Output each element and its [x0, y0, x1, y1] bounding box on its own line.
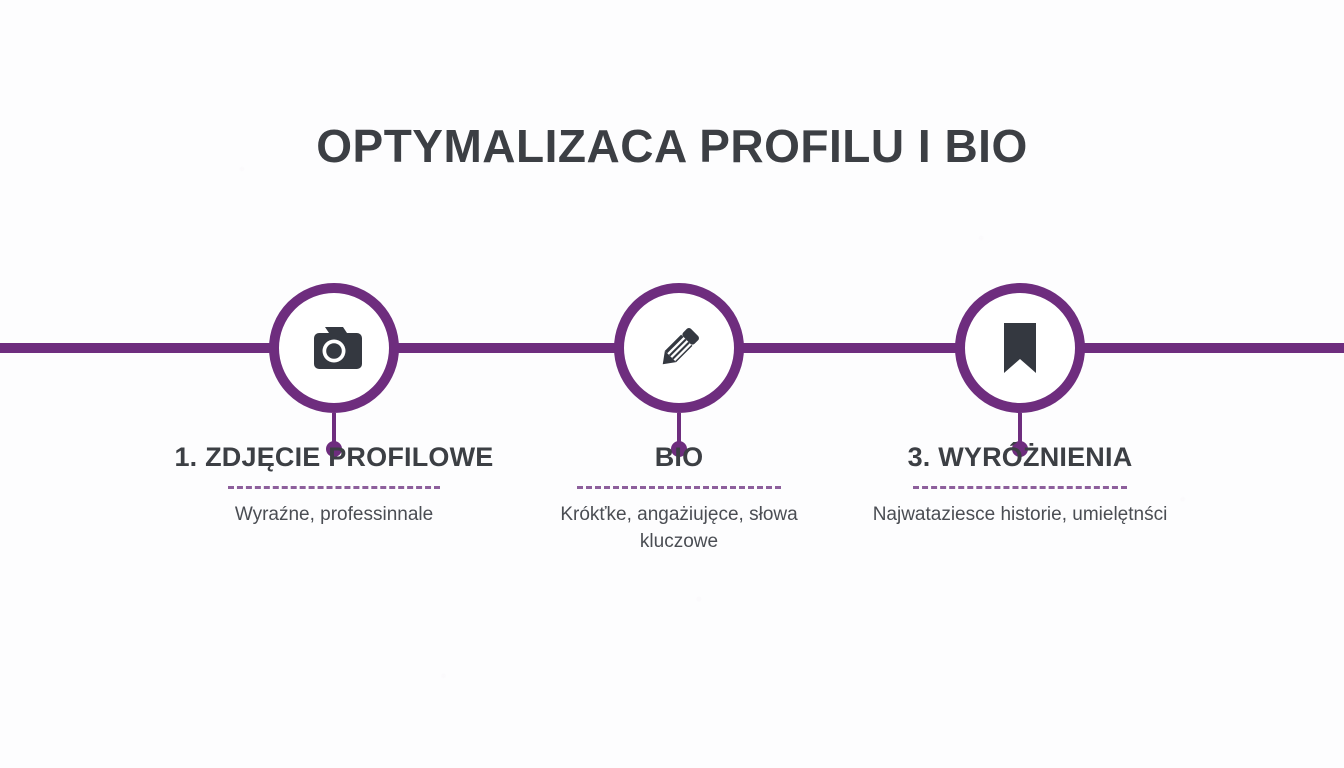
timeline-step-3[interactable] [870, 283, 1170, 458]
step-label-block-3: 3. WYRÓŻNIENIA Najwataziesce historie, u… [840, 443, 1200, 528]
pencil-icon [652, 321, 706, 375]
step-divider-3 [913, 486, 1127, 489]
step-label-block-1: 1. ZDJĘCIE PROFILOWE Wyraźne, professinn… [154, 443, 514, 528]
node-stem-3 [1018, 413, 1022, 443]
timeline-steps: 1. ZDJĘCIE PROFILOWE Wyraźne, professinn… [0, 0, 1344, 768]
infographic-canvas: OPTYMALIZACA PROFILU I BIO [0, 0, 1344, 768]
timeline-node-3[interactable] [955, 283, 1085, 413]
camera-icon [305, 324, 363, 372]
step-title-3: 3. WYRÓŻNIENIA [840, 443, 1200, 473]
step-title-2: BIO [499, 443, 859, 473]
timeline-node-1[interactable] [269, 283, 399, 413]
bookmark-icon [1000, 322, 1040, 374]
step-description-3: Najwataziesce historie, umielętnści [870, 501, 1170, 529]
node-stem-2 [677, 413, 681, 443]
timeline-node-2[interactable] [614, 283, 744, 413]
timeline-step-2[interactable] [529, 283, 829, 458]
step-divider-2 [577, 486, 781, 489]
step-description-2: Krókťke, angażiujęce, słowa kluczowe [529, 501, 829, 556]
step-label-block-2: BIO Krókťke, angażiujęce, słowa kluczowe [499, 443, 859, 556]
node-wrapper-2 [529, 283, 829, 458]
step-title-1: 1. ZDJĘCIE PROFILOWE [154, 443, 514, 473]
timeline-step-1[interactable] [184, 283, 484, 458]
node-stem-1 [332, 413, 336, 443]
node-wrapper-1 [184, 283, 484, 458]
step-description-1: Wyraźne, professinnale [184, 501, 484, 529]
node-wrapper-3 [870, 283, 1170, 458]
step-divider-1 [228, 486, 440, 489]
